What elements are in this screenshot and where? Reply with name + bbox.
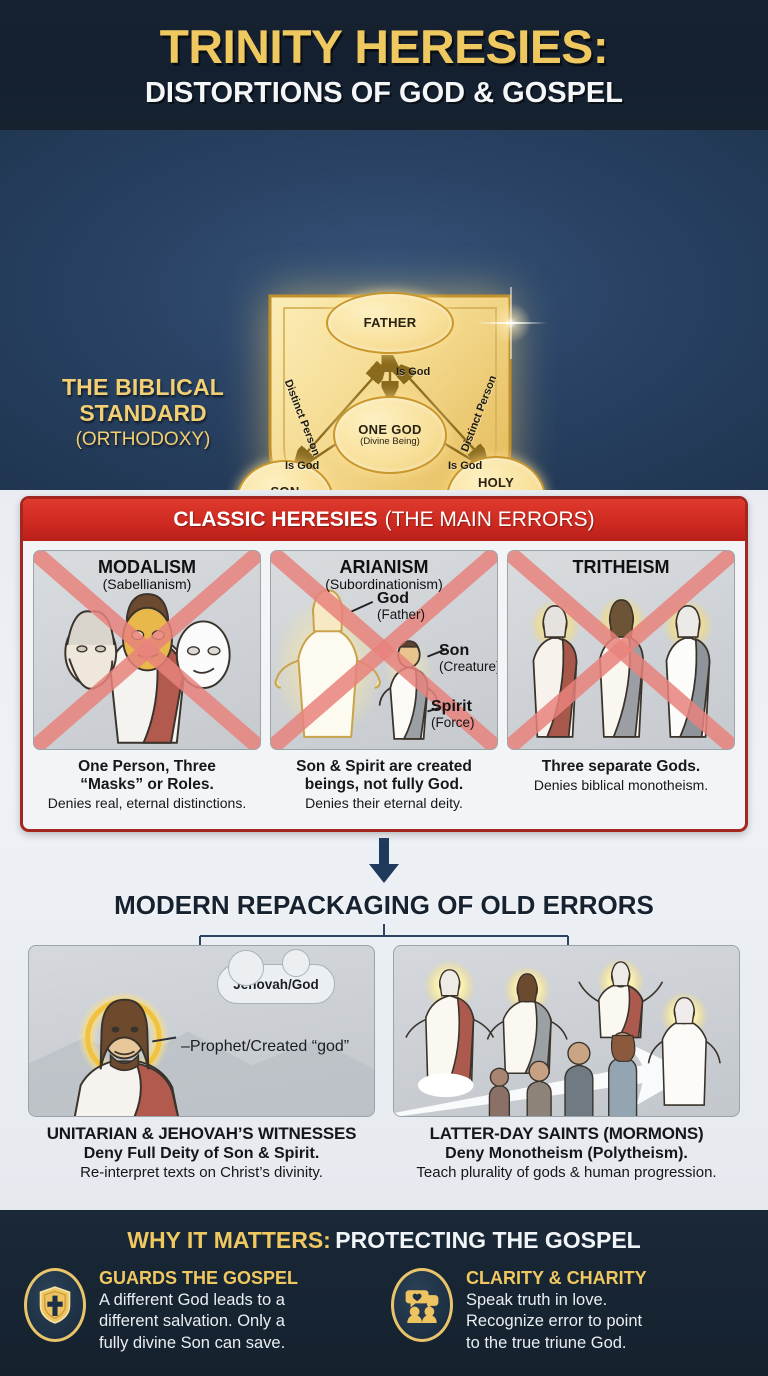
biblical-standard-line1: THE BIBLICAL <box>38 375 248 401</box>
why-text-clarity-charity: CLARITY & CHARITY Speak truth in love. R… <box>466 1268 647 1354</box>
edge-label-son-is-god: Is God <box>285 460 319 472</box>
modern-section-title: MODERN REPACKAGING OF OLD ERRORS <box>0 890 768 921</box>
biblical-standard-label: THE BIBLICAL STANDARD (ORTHODOXY) <box>38 375 248 450</box>
heresy-title-tritheism-main: TRITHEISM <box>573 557 670 577</box>
why-title-white: PROTECTING THE GOSPEL <box>335 1227 640 1253</box>
arianism-label-spirit: Spirit (Force) <box>431 699 475 730</box>
people-speech-heart-glyph <box>404 1287 440 1323</box>
shield-cross-icon <box>24 1268 86 1342</box>
arianism-label-god: God (Father) <box>377 591 425 622</box>
guards-gospel-line2: different salvation. Only a <box>99 1312 298 1332</box>
modern-panel-row: Jehovah/God –Prophet/Created “god” UNITA… <box>28 945 740 1182</box>
header-banner: TRINITY HERESIES: DISTORTIONS OF GOD & G… <box>0 0 768 130</box>
lds-illustration <box>394 946 739 1117</box>
edge-label-spirit-is-god: Is God <box>448 460 482 472</box>
edge-label-father-is-god: Is God <box>396 366 430 378</box>
heresy-title-modalism: MODALISM (Sabellianism) <box>34 558 260 593</box>
node-one-god-sub: (Divine Being) <box>360 437 420 447</box>
clarity-charity-line1: Speak truth in love. <box>466 1291 647 1311</box>
why-it-matters-title: WHY IT MATTERS: PROTECTING THE GOSPEL <box>0 1210 768 1252</box>
modalism-caption-line2: “Masks” or Roles. <box>33 776 261 794</box>
modern-column-lds: LATTER-DAY SAINTS (MORMONS) Deny Monothe… <box>393 945 740 1182</box>
heresy-title-tritheism: TRITHEISM <box>508 558 734 577</box>
tritheism-illustration <box>508 551 734 747</box>
lds-heading: LATTER-DAY SAINTS (MORMONS) <box>393 1124 740 1144</box>
classic-heresies-banner-light: (THE MAIN ERRORS) <box>385 508 595 532</box>
heresy-title-modalism-sub: (Sabellianism) <box>34 577 260 592</box>
why-it-matters-section: WHY IT MATTERS: PROTECTING THE GOSPEL GU… <box>0 1210 768 1376</box>
guards-gospel-line1: A different God leads to a <box>99 1291 298 1311</box>
heresy-title-arianism-main: ARIANISM <box>340 557 429 577</box>
heresy-column-arianism: ARIANISM (Subordinationism) <box>270 550 498 811</box>
sparkle-icon <box>488 300 534 346</box>
arianism-label-son: Son (Creature) <box>439 643 498 674</box>
infographic-page: TRINITY HERESIES: DISTORTIONS OF GOD & G… <box>0 0 768 1376</box>
modern-panel-unitarian-jw: Jehovah/God –Prophet/Created “god” <box>28 945 375 1117</box>
biblical-standard-section: THE BIBLICAL STANDARD (ORTHODOXY) <box>0 130 768 490</box>
clarity-charity-heading: CLARITY & CHARITY <box>466 1268 647 1289</box>
why-title-gold: WHY IT MATTERS: <box>127 1227 331 1253</box>
people-speech-heart-icon <box>391 1268 453 1342</box>
node-one-god-label: ONE GOD <box>358 423 422 436</box>
unitarian-jw-heading: UNITARIAN & JEHOVAH’S WITNESSES <box>28 1124 375 1144</box>
clarity-charity-line2: Recognize error to point <box>466 1312 647 1332</box>
why-item-guards-gospel: GUARDS THE GOSPEL A different God leads … <box>24 1268 377 1354</box>
why-it-matters-row: GUARDS THE GOSPEL A different God leads … <box>0 1252 768 1354</box>
heresy-caption-tritheism: Three separate Gods. Denies biblical mon… <box>507 758 735 793</box>
prophet-created-god-label: –Prophet/Created “god” <box>181 1038 349 1056</box>
heresy-panel-modalism: MODALISM (Sabellianism) <box>33 550 261 750</box>
classic-heresies-banner: CLASSIC HERESIES (THE MAIN ERRORS) <box>23 499 745 541</box>
heresy-title-modalism-main: MODALISM <box>98 557 196 577</box>
lds-bold: Deny Monotheism (Polytheism). <box>393 1144 740 1163</box>
guards-gospel-line3: fully divine Son can save. <box>99 1334 298 1354</box>
shield-cross-glyph <box>38 1285 72 1325</box>
heresy-panel-tritheism: TRITHEISM <box>507 550 735 750</box>
unitarian-jw-bold: Deny Full Deity of Son & Spirit. <box>28 1144 375 1163</box>
heresy-caption-arianism: Son & Spirit are created beings, not ful… <box>270 758 498 811</box>
clarity-charity-line3: to the true triune God. <box>466 1334 647 1354</box>
heresy-caption-modalism: One Person, Three “Masks” or Roles. Deni… <box>33 758 261 811</box>
classic-heresies-card: CLASSIC HERESIES (THE MAIN ERRORS) MODAL… <box>20 496 748 832</box>
why-text-guards-gospel: GUARDS THE GOSPEL A different God leads … <box>99 1268 298 1354</box>
unitarian-jw-light: Re-interpret texts on Christ’s divinity. <box>28 1164 375 1182</box>
arianism-caption-line2: beings, not fully God. <box>270 776 498 794</box>
node-father-label: FATHER <box>364 316 417 329</box>
modern-column-unitarian-jw: Jehovah/God –Prophet/Created “god” UNITA… <box>28 945 375 1182</box>
arianism-caption-line1: Son & Spirit are created <box>270 758 498 776</box>
why-item-clarity-charity: CLARITY & CHARITY Speak truth in love. R… <box>391 1268 744 1354</box>
modalism-caption-line3: Denies real, eternal distinctions. <box>33 795 261 811</box>
classic-heresies-banner-bold: CLASSIC HERESIES <box>173 508 377 532</box>
node-father: FATHER <box>326 292 454 354</box>
heresy-column-modalism: MODALISM (Sabellianism) <box>33 550 261 811</box>
biblical-standard-line3: (ORTHODOXY) <box>38 429 248 450</box>
node-one-god: ONE GOD (Divine Being) <box>333 396 447 474</box>
node-holy-spirit-label1: HOLY <box>478 476 514 489</box>
heresy-title-arianism: ARIANISM (Subordinationism) <box>271 558 497 593</box>
guards-gospel-heading: GUARDS THE GOSPEL <box>99 1268 298 1289</box>
arianism-caption-line3: Denies their eternal deity. <box>270 795 498 811</box>
page-subtitle: DISTORTIONS OF GOD & GOSPEL <box>145 79 623 108</box>
tritheism-caption-line2: Denies biblical monotheism. <box>507 777 735 793</box>
lds-light: Teach plurality of gods & human progress… <box>393 1164 740 1182</box>
modalism-caption-line1: One Person, Three <box>33 758 261 776</box>
heresy-panel-arianism: ARIANISM (Subordinationism) <box>270 550 498 750</box>
heresy-panel-row: MODALISM (Sabellianism) <box>23 541 745 811</box>
down-arrow-icon <box>368 838 400 884</box>
heresy-column-tritheism: TRITHEISM <box>507 550 735 811</box>
jehovah-god-cloud-label: Jehovah/God <box>217 964 335 1004</box>
modern-caption-lds: LATTER-DAY SAINTS (MORMONS) Deny Monothe… <box>393 1124 740 1182</box>
page-title: TRINITY HERESIES: <box>160 23 609 70</box>
modern-caption-unitarian-jw: UNITARIAN & JEHOVAH’S WITNESSES Deny Ful… <box>28 1124 375 1182</box>
tritheism-caption-line1: Three separate Gods. <box>507 758 735 776</box>
modern-panel-lds <box>393 945 740 1117</box>
biblical-standard-line2: STANDARD <box>38 401 248 427</box>
